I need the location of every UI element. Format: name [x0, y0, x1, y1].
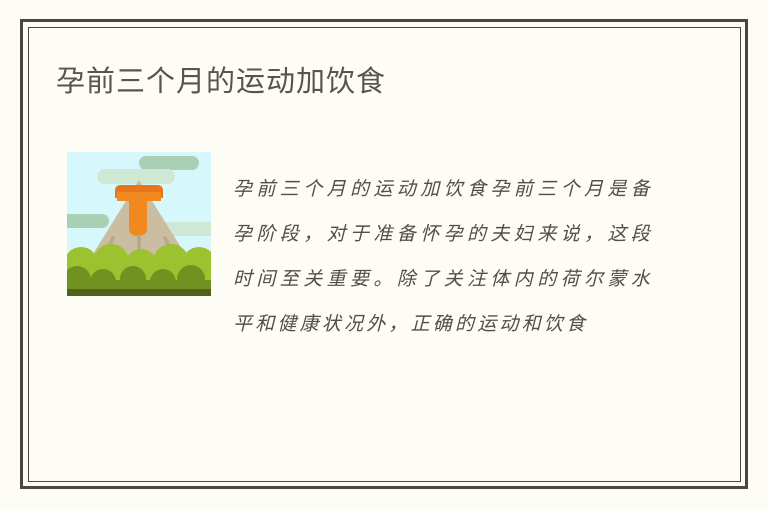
page-title: 孕前三个月的运动加饮食 [56, 62, 386, 102]
volcano-illustration [67, 152, 211, 296]
cloud-dark-top [139, 156, 199, 170]
cloud-light-top [97, 169, 175, 184]
cloud-dark-left [67, 214, 109, 228]
lava-pool [117, 192, 161, 201]
ground-strip [67, 289, 211, 296]
page-root: 孕前三个月的运动加饮食 [0, 0, 768, 510]
article-body-text: 孕前三个月的运动加饮食孕前三个月是备孕阶段，对于准备怀孕的夫妇来说，这段时间至关… [233, 167, 653, 347]
